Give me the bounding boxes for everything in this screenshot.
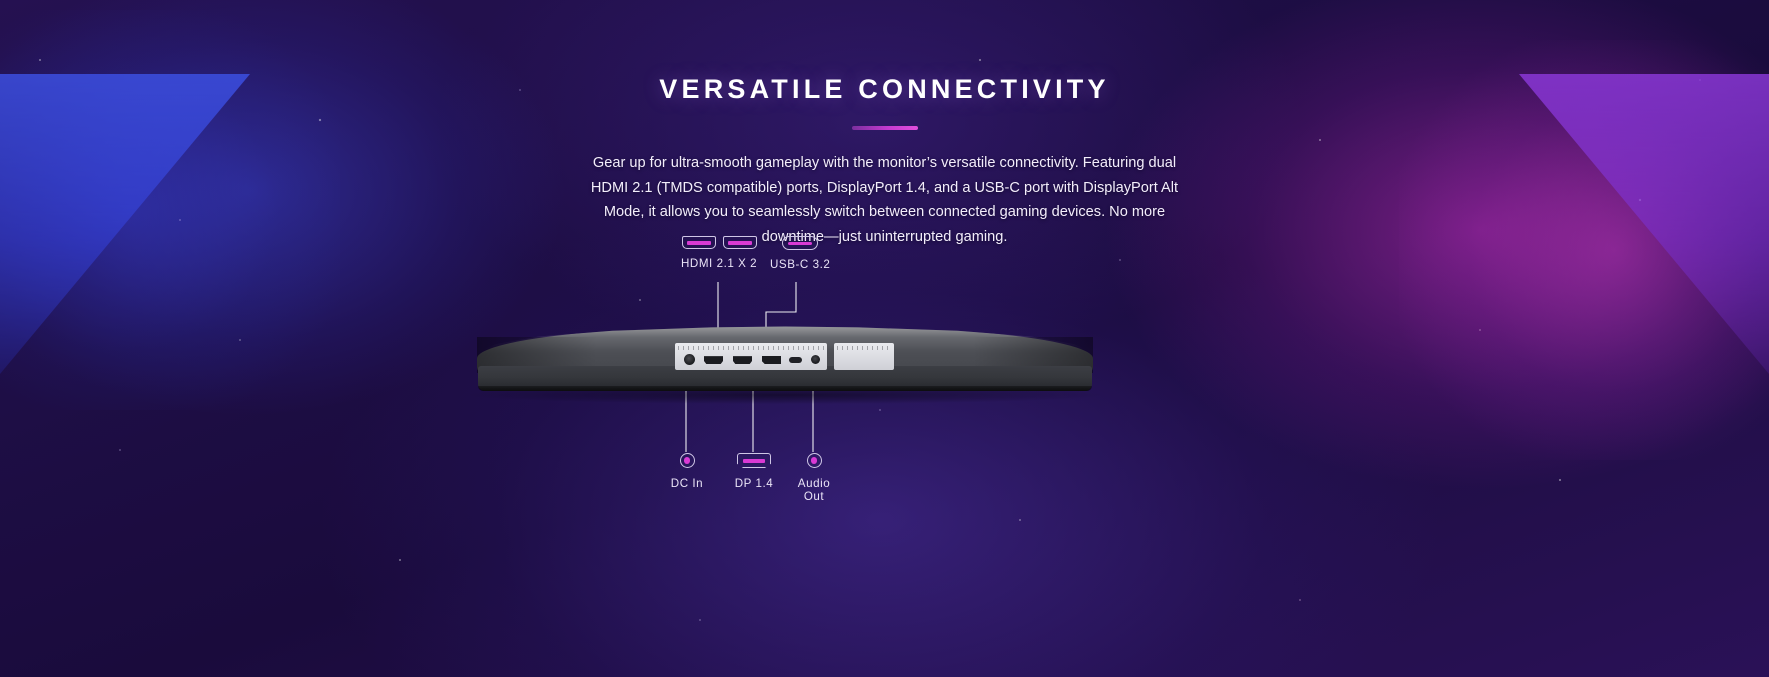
callout-label-hdmi: HDMI 2.1 X 2 bbox=[681, 258, 757, 271]
callout-label-audio-out: Audio Out bbox=[791, 478, 837, 503]
usb-c-port bbox=[789, 357, 802, 363]
hdmi-port-2 bbox=[733, 356, 752, 364]
callout-dc-in: DC In bbox=[659, 453, 715, 491]
hero-text-block: VERSATILE CONNECTIVITY Gear up for ultra… bbox=[0, 72, 1769, 249]
displayport-icon bbox=[737, 453, 771, 468]
audio-out-port bbox=[811, 355, 820, 364]
audio-jack-icon bbox=[807, 453, 822, 468]
usb-c-port-icon bbox=[782, 236, 818, 250]
callout-label-dc-in: DC In bbox=[671, 478, 703, 491]
displayport-port bbox=[762, 356, 781, 364]
callout-audio-out: Audio Out bbox=[786, 453, 842, 503]
page-title: VERSATILE CONNECTIVITY bbox=[0, 72, 1769, 106]
callout-usbc: USB-C 3.2 bbox=[770, 236, 830, 272]
monitor-rear-view bbox=[477, 325, 1093, 391]
io-secondary-plate bbox=[834, 343, 894, 370]
io-plate-ticks bbox=[678, 346, 824, 350]
connectivity-section: VERSATILE CONNECTIVITY Gear up for ultra… bbox=[0, 0, 1769, 677]
callout-label-usbc: USB-C 3.2 bbox=[770, 259, 830, 272]
accent-divider bbox=[852, 126, 918, 130]
hdmi-port-1 bbox=[704, 356, 723, 364]
hdmi-port-icon bbox=[723, 236, 757, 249]
usbc-icon-group bbox=[782, 236, 818, 250]
io-secondary-plate-ticks bbox=[837, 346, 891, 350]
hdmi-icon-group bbox=[682, 236, 757, 249]
hdmi-port-icon bbox=[682, 236, 716, 249]
dc-power-jack-icon bbox=[680, 453, 695, 468]
io-port-plate bbox=[675, 343, 827, 370]
callout-hdmi: HDMI 2.1 X 2 bbox=[681, 236, 757, 271]
callout-label-dp: DP 1.4 bbox=[735, 478, 774, 491]
callout-displayport: DP 1.4 bbox=[726, 453, 782, 491]
dc-in-port bbox=[684, 354, 695, 365]
hero-paragraph: Gear up for ultra-smooth gameplay with t… bbox=[585, 151, 1185, 249]
